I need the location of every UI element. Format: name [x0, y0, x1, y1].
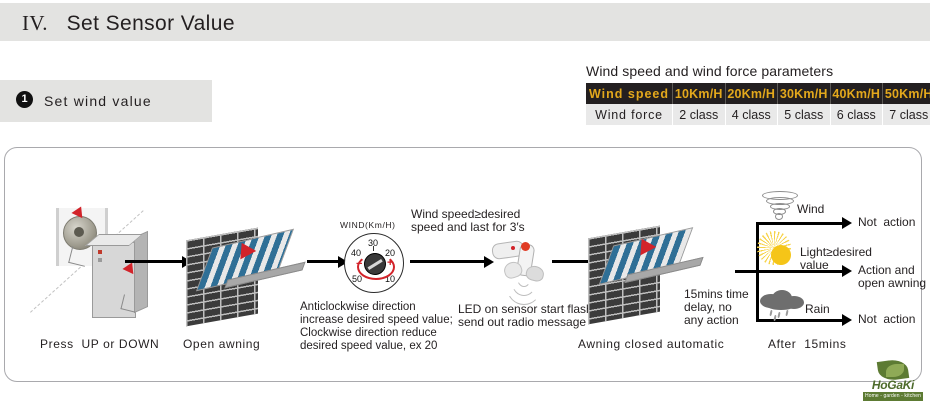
sun-icon [764, 238, 798, 272]
tornado-icon [760, 190, 800, 222]
branch-arrow-wind [842, 217, 852, 229]
wind-speed-dial[interactable]: 30 20 10 50 40 − + [344, 233, 404, 293]
receiver-led-2-icon [98, 258, 102, 262]
section-numeral: IV. [22, 11, 48, 35]
flow-arrow-4 [552, 260, 590, 263]
rain-cloud-icon [756, 288, 808, 322]
rain-drop-4 [773, 315, 776, 321]
cell-force-3: 5 class [778, 104, 831, 125]
dial-tick-mark [373, 246, 374, 251]
branch-result-wind: Not action [858, 216, 915, 229]
branch-line-wind [756, 222, 844, 225]
rain-drop-1 [769, 310, 772, 316]
cell-force-2: 4 class [725, 104, 778, 125]
table-row-wind-speed: Wind speed 10Km/H 20Km/H 30Km/H 40Km/H 5… [586, 83, 930, 104]
page-title: IV. Set Sensor Value [22, 11, 235, 36]
cell-speed-5: 50Km/H [883, 83, 930, 104]
flow-arrow-2 [307, 260, 339, 263]
caption-press-up-down: Press UP or DOWN [40, 338, 159, 351]
sensor-illustration [490, 238, 562, 300]
logo-name: HoGaKi [862, 378, 924, 392]
cell-speed-4: 40Km/H [830, 83, 883, 104]
button-center [74, 227, 84, 237]
cloud-lobe-4 [766, 300, 796, 310]
step-label: Set wind value [44, 93, 152, 109]
caption-delay-note: 15mins time delay, no any action [684, 288, 749, 327]
step-chip: 1 Set wind value [0, 80, 212, 122]
cell-speed-3: 30Km/H [778, 83, 831, 104]
cell-force-5: 7 class [883, 104, 930, 125]
flow-arrow-3 [410, 260, 485, 263]
branch-result-light: Action and open awning [858, 264, 926, 290]
cell-force-4: 6 class [830, 104, 883, 125]
rain-drop-2 [777, 312, 780, 318]
dial-knob[interactable] [364, 253, 386, 275]
caption-open-awning: Open awning [183, 338, 260, 351]
caption-after-15mins: After 15mins [768, 338, 847, 351]
dial-tick-50: 50 [352, 274, 362, 284]
cell-force-1: 2 class [673, 104, 726, 125]
sun-disc [771, 245, 791, 265]
step-bullet-icon: 1 [16, 91, 33, 108]
flow-arrow-1 [125, 260, 183, 263]
caption-sensor-note: LED on sensor start flash send out radio… [458, 303, 593, 329]
table-title: Wind speed and wind force parameters [586, 63, 930, 79]
row-header-wind-speed: Wind speed [586, 83, 673, 104]
page-header-bar: IV. Set Sensor Value [0, 3, 930, 41]
dial-label: WIND(Km/H) [340, 220, 396, 230]
wind-parameters-table: Wind speed 10Km/H 20Km/H 30Km/H 40Km/H 5… [586, 83, 930, 125]
brand-logo: HoGaKi Home - garden - kitchen [862, 362, 924, 402]
table-row-wind-force: Wind force 2 class 4 class 5 class 6 cla… [586, 104, 930, 125]
branch-label-wind: Wind [797, 203, 824, 216]
caption-awning-closed: Awning closed automatic [578, 338, 724, 351]
section-title-text: Set Sensor Value [67, 12, 235, 35]
sensor-led-icon [521, 242, 530, 251]
branch-label-rain: Rain [805, 303, 830, 316]
rain-drop-3 [785, 310, 788, 316]
caption-wind-condition: Wind speed≥desired speed and last for 3′… [411, 208, 525, 234]
receiver-led-icon [98, 250, 102, 254]
sensor-led-2-icon [511, 246, 515, 250]
caption-dial-note: Anticlockwise direction increase desired… [300, 301, 453, 353]
wind-parameters-block: Wind speed and wind force parameters Win… [586, 63, 930, 125]
branch-result-rain: Not action [858, 313, 915, 326]
cell-speed-2: 20Km/H [725, 83, 778, 104]
row-header-wind-force: Wind force [586, 104, 673, 125]
awning-open-illustration [186, 226, 304, 324]
branch-arrow-rain [842, 314, 852, 326]
dial-tick-40: 40 [351, 248, 361, 258]
logo-tagline: Home - garden - kitchen [863, 392, 923, 401]
cell-speed-1: 10Km/H [673, 83, 726, 104]
